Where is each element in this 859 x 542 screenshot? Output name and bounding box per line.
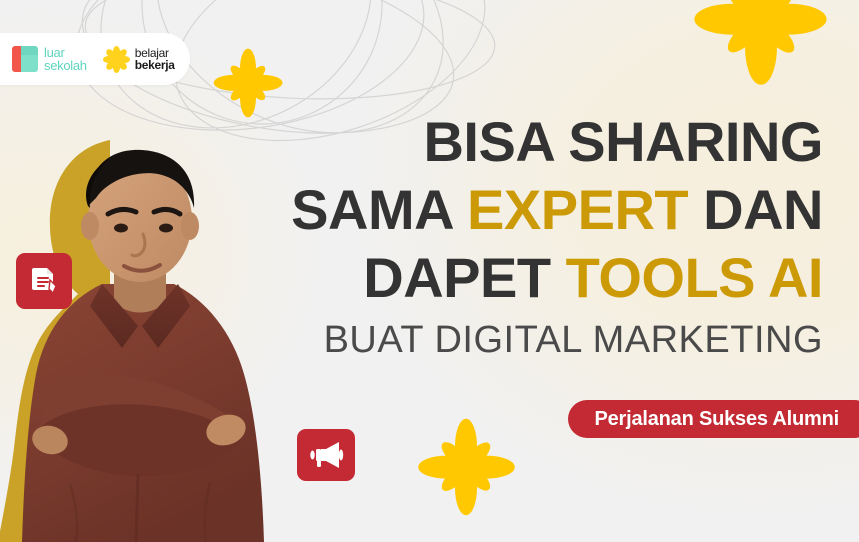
promo-banner: luar sekolah belajar bekerja B [0, 0, 859, 542]
headline-line-3-prefix: DAPET [363, 246, 565, 309]
headline-line-2-prefix: SAMA [291, 178, 467, 241]
headline-line-2-suffix: DAN [688, 178, 823, 241]
luar-sekolah-mark-icon [12, 46, 38, 72]
document-edit-icon [27, 264, 61, 298]
headline-subtitle: BUAT DIGITAL MARKETING [183, 318, 823, 362]
status-badge: Perjalanan Sukses Alumni [568, 400, 859, 438]
flower-bottom-center-icon [414, 415, 518, 519]
belajar-bekerja-logo: belajar bekerja [105, 47, 175, 72]
headline-line-3: DAPET TOOLS AI [183, 244, 823, 312]
headline-line-3-highlight: TOOLS AI [566, 246, 823, 309]
logo-pill: luar sekolah belajar bekerja [0, 33, 190, 85]
megaphone-icon [308, 440, 344, 470]
headline-block: BISA SHARING SAMA EXPERT DAN DAPET TOOLS… [183, 108, 823, 362]
document-edit-icon-tile [16, 253, 72, 309]
luar-sekolah-line2: sekolah [44, 59, 87, 72]
headline-line-2-highlight: EXPERT [467, 178, 688, 241]
belajar-bekerja-line2: bekerja [135, 59, 175, 72]
sun-icon [105, 47, 129, 71]
headline-line-2: SAMA EXPERT DAN [183, 176, 823, 244]
belajar-bekerja-wordmark: belajar bekerja [135, 47, 175, 72]
megaphone-icon-tile [297, 429, 355, 481]
headline-line-1: BISA SHARING [183, 108, 823, 176]
status-badge-label: Perjalanan Sukses Alumni [594, 408, 839, 431]
flower-top-right-icon [690, 0, 832, 90]
luar-sekolah-logo: luar sekolah [12, 46, 87, 72]
luar-sekolah-wordmark: luar sekolah [44, 46, 87, 72]
